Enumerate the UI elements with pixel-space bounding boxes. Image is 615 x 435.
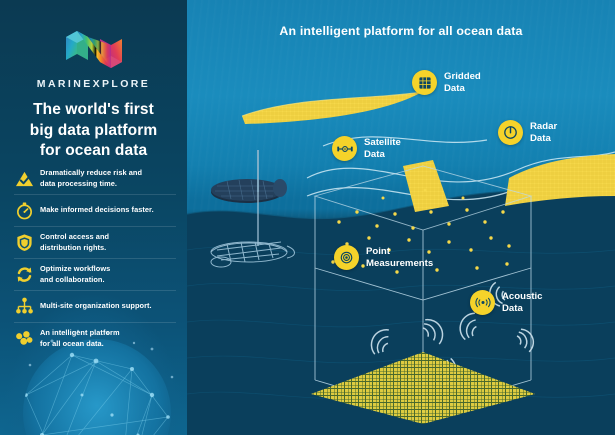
tagline-line-2: big data platform xyxy=(14,121,173,142)
page-title: The world's first big data platform for … xyxy=(14,100,173,162)
label-point-measurements: PointMeasurements xyxy=(334,245,433,270)
list-item-label: Control access anddistribution rights. xyxy=(40,232,109,253)
label-text: RadarData xyxy=(530,121,557,144)
target-icon xyxy=(334,245,359,270)
satellite-swath xyxy=(403,160,449,212)
list-item: Control access anddistribution rights. xyxy=(14,227,176,259)
label-text: GriddedData xyxy=(444,71,481,94)
label-satellite-data: SatelliteData xyxy=(332,136,401,161)
stopwatch-icon xyxy=(14,201,34,221)
label-text: SatelliteData xyxy=(364,137,401,160)
list-item: Optimize workflowsand collaboration. xyxy=(14,259,176,291)
list-item-label: Multi-site organization support. xyxy=(40,301,152,312)
marinexplore-infinity-logo xyxy=(63,27,125,72)
label-radar-data: RadarData xyxy=(498,120,557,145)
sidebar-panel: MARINEXPLORE The world's first big data … xyxy=(0,0,187,435)
radar-dial-icon xyxy=(498,120,523,145)
org-chart-icon xyxy=(14,297,34,317)
shield-icon xyxy=(14,233,34,253)
label-acoustic-data: AcousticData xyxy=(470,290,543,315)
brand-wordmark: MARINEXPLORE xyxy=(0,78,187,90)
label-gridded-data: GriddedData xyxy=(412,70,481,95)
tagline-line-3: for ocean data xyxy=(14,141,173,162)
list-item-label: Optimize workflowsand collaboration. xyxy=(40,264,110,285)
surface-buoy xyxy=(211,150,287,203)
list-item-label: Dramatically reduce risk anddata process… xyxy=(40,168,142,189)
satellite-icon xyxy=(332,136,357,161)
grid-icon xyxy=(412,70,437,95)
list-item-label: Make informed decisions faster. xyxy=(40,205,154,216)
list-item: Make informed decisions faster. xyxy=(14,195,176,227)
list-item: Multi-site organization support. xyxy=(14,291,176,323)
infographic-page: MARINEXPLORE The world's first big data … xyxy=(0,0,615,435)
label-text: AcousticData xyxy=(502,291,543,314)
list-item-label: An intelligent platformfor all ocean dat… xyxy=(40,328,120,349)
sonar-icon xyxy=(470,290,495,315)
feature-list: Dramatically reduce risk anddata process… xyxy=(14,163,176,354)
label-text: PointMeasurements xyxy=(366,246,433,269)
ocean-illustration: An intelligent platform for all ocean da… xyxy=(187,0,615,435)
scene-title: An intelligent platform for all ocean da… xyxy=(187,24,615,38)
list-item: An intelligent platformfor all ocean dat… xyxy=(14,323,176,354)
ocean-scene-svg xyxy=(187,0,615,435)
tagline-line-1: The world's first xyxy=(14,100,173,121)
refresh-cycle-icon xyxy=(14,265,34,285)
list-item: Dramatically reduce risk anddata process… xyxy=(14,163,176,195)
node-cluster-icon xyxy=(14,329,34,349)
mountain-check-icon xyxy=(14,169,34,189)
